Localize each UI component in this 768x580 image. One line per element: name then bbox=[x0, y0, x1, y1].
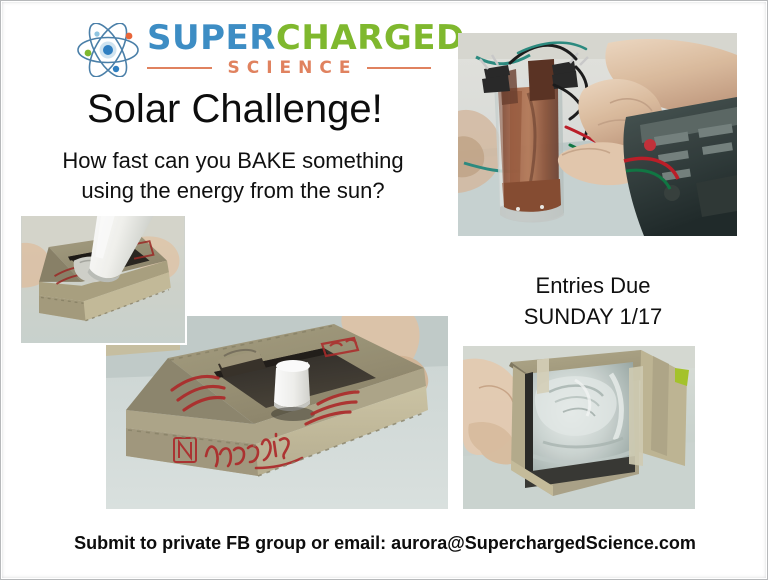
photo-battery-experiment bbox=[458, 33, 737, 236]
deadline-date: SUNDAY 1/17 bbox=[478, 301, 708, 332]
photo-foil-lined-box bbox=[463, 346, 695, 509]
atom-icon bbox=[75, 23, 141, 77]
brand-rule-right bbox=[367, 67, 432, 69]
brand-logo: SUPERCHARGED SCIENCE bbox=[75, 19, 447, 83]
submit-instructions: Submit to private FB group or email: aur… bbox=[1, 533, 768, 554]
brand-word-super: SUPER bbox=[147, 18, 276, 58]
brand-word-charged: CHARGED bbox=[276, 18, 465, 58]
deadline-block: Entries Due SUNDAY 1/17 bbox=[478, 270, 708, 332]
page-title: Solar Challenge! bbox=[87, 87, 383, 132]
brand-word-science: SCIENCE bbox=[212, 58, 367, 78]
flyer-page: SUPERCHARGED SCIENCE Solar Challenge! Ho… bbox=[0, 0, 768, 580]
page-subtitle: How fast can you BAKE something using th… bbox=[43, 146, 423, 206]
brand-wordmark-main: SUPERCHARGED bbox=[147, 19, 447, 57]
brand-subline: SCIENCE bbox=[147, 58, 431, 78]
page-subtitle-line-2: using the energy from the sun? bbox=[43, 176, 423, 206]
photo-cone-on-oven bbox=[19, 214, 187, 345]
brand-rule-left bbox=[147, 67, 212, 69]
brand-wordmark: SUPERCHARGED SCIENCE bbox=[147, 19, 447, 78]
deadline-label: Entries Due bbox=[478, 270, 708, 301]
page-subtitle-line-1: How fast can you BAKE something bbox=[43, 146, 423, 176]
